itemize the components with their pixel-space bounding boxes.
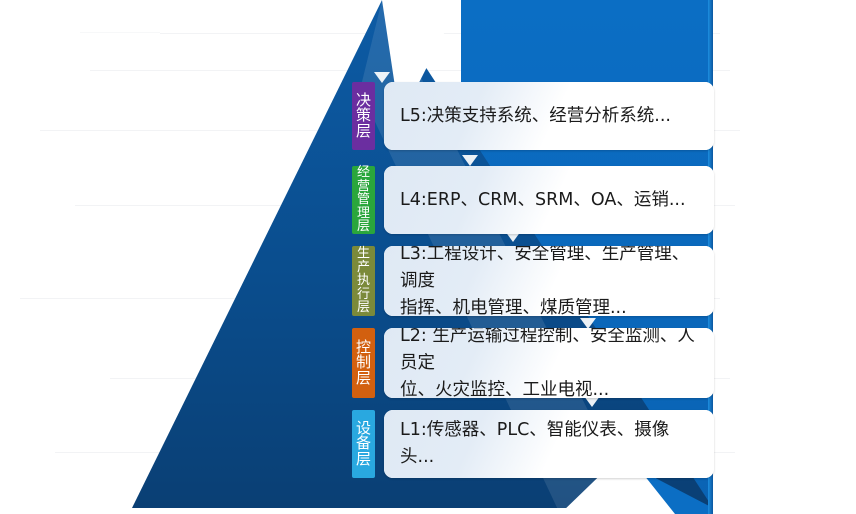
layer-card-l3[interactable]: L3:工程设计、安全管理、生产管理、调度 指挥、机电管理、煤质管理...	[384, 246, 714, 316]
tab-char: 执	[357, 274, 370, 288]
layer-card-text: L5:决策支持系统、经营分析系统...	[400, 103, 671, 130]
layer-card-l4[interactable]: L4:ERP、CRM、SRM、OA、运销...	[384, 166, 714, 234]
diagram-canvas: 决 策 层 L5:决策支持系统、经营分析系统... 经 营 管 理 层	[0, 0, 856, 514]
layer-card-line: L5:决策支持系统、经营分析系统...	[400, 103, 671, 130]
layer-card-text: L2: 生产运输过程控制、安全监测、人员定 位、火灾监控、工业电视...	[400, 328, 698, 398]
layer-card-line: L3:工程设计、安全管理、生产管理、调度	[400, 246, 698, 295]
tab-business-management-layer[interactable]: 经 营 管 理 层	[352, 166, 375, 234]
layer-card-text: L3:工程设计、安全管理、生产管理、调度 指挥、机电管理、煤质管理...	[400, 246, 698, 316]
layer-card-l1[interactable]: L1:传感器、PLC、智能仪表、摄像头...	[384, 410, 714, 478]
tab-char: 层	[356, 452, 371, 468]
tab-char: 层	[356, 371, 371, 387]
layer-card-line: L2: 生产运输过程控制、安全监测、人员定	[400, 328, 698, 377]
tab-char: 层	[356, 124, 371, 140]
tab-char: 层	[357, 220, 370, 234]
layer-row-l4[interactable]: 经 营 管 理 层 L4:ERP、CRM、SRM、OA、运销...	[352, 166, 714, 234]
layer-card-l5[interactable]: L5:决策支持系统、经营分析系统...	[384, 82, 714, 150]
tab-char: 营	[357, 180, 370, 194]
layer-card-line: 指挥、机电管理、煤质管理...	[400, 295, 698, 317]
layer-card-l2[interactable]: L2: 生产运输过程控制、安全监测、人员定 位、火灾监控、工业电视...	[384, 328, 714, 398]
layer-card-line: L1:传感器、PLC、智能仪表、摄像头...	[400, 417, 698, 471]
layer-row-l5[interactable]: 决 策 层 L5:决策支持系统、经营分析系统...	[352, 82, 714, 150]
tab-control-layer[interactable]: 控 制 层	[352, 328, 375, 398]
layer-rows: 决 策 层 L5:决策支持系统、经营分析系统... 经 营 管 理 层	[0, 0, 856, 514]
layer-row-l1[interactable]: 设 备 层 L1:传感器、PLC、智能仪表、摄像头...	[352, 410, 714, 478]
tab-equipment-layer[interactable]: 设 备 层	[352, 410, 375, 478]
tab-char: 行	[357, 288, 370, 302]
tab-char: 产	[357, 261, 370, 275]
tab-production-execution-layer[interactable]: 生 产 执 行 层	[352, 246, 375, 316]
tab-char: 管	[357, 193, 370, 207]
tab-char: 理	[357, 207, 370, 221]
layer-card-text: L4:ERP、CRM、SRM、OA、运销...	[400, 187, 686, 214]
tab-char: 生	[357, 247, 370, 261]
layer-card-line: 位、火灾监控、工业电视...	[400, 377, 698, 399]
layer-card-line: L4:ERP、CRM、SRM、OA、运销...	[400, 187, 686, 214]
tab-char: 经	[357, 166, 370, 180]
layer-row-l2[interactable]: 控 制 层 L2: 生产运输过程控制、安全监测、人员定 位、火灾监控、工业电视.…	[352, 328, 714, 398]
tab-char: 层	[357, 301, 370, 315]
layer-row-l3[interactable]: 生 产 执 行 层 L3:工程设计、安全管理、生产管理、调度 指挥、机电管理、煤…	[352, 246, 714, 316]
layer-card-text: L1:传感器、PLC、智能仪表、摄像头...	[400, 417, 698, 471]
tab-decision-layer[interactable]: 决 策 层	[352, 82, 375, 150]
